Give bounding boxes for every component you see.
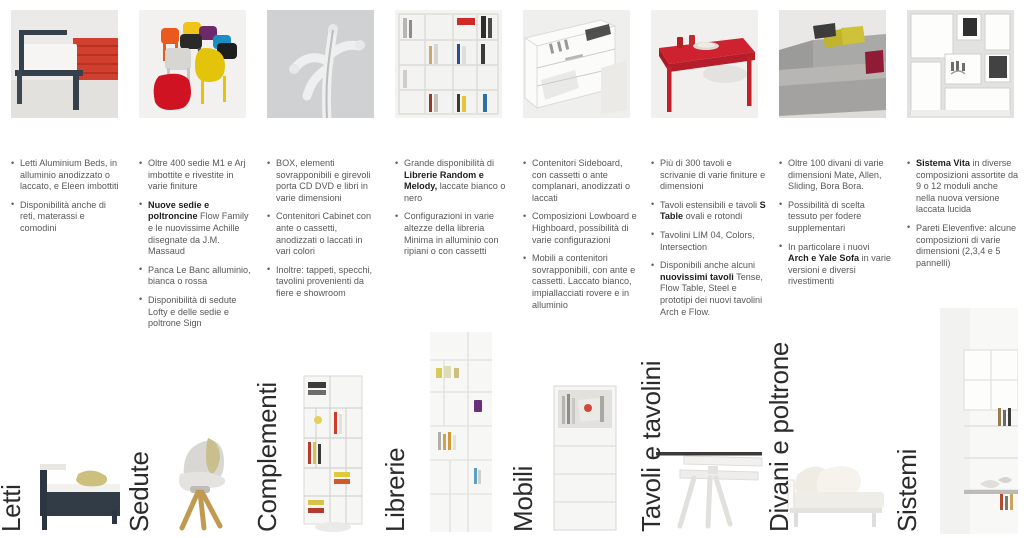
list-item: BOX, elementi sovrapponibili e girevoli … xyxy=(267,158,379,204)
emphasis-text: Sistema Vita xyxy=(916,158,970,168)
wall-unit-photo xyxy=(940,308,1018,534)
list-item: Tavolini LIM 04, Colors, Intersection xyxy=(651,230,767,253)
body-text: Disponibilità anche di reti, materassi e… xyxy=(20,200,106,233)
list-item: Composizioni Lowboard e Highboard, possi… xyxy=(523,211,639,246)
category-column-mobili: Contenitori Sideboard, con cassetti o an… xyxy=(512,0,640,538)
body-text: Oltre 100 divani di varie dimensioni Mat… xyxy=(788,158,884,191)
emphasis-text: Arch e Yale Sofa xyxy=(788,253,859,263)
bookshelf-photo xyxy=(395,10,502,118)
category-columns: Letti Aluminium Beds, in alluminio anodi… xyxy=(0,0,1024,538)
body-text: Possibilità di scelta tessuto per fodere… xyxy=(788,200,865,233)
body-text: Disponibili anche alcuni xyxy=(660,260,755,270)
list-item: Disponibili anche alcuni nuovissimi tavo… xyxy=(651,260,767,318)
body-text: Panca Le Banc alluminio, bianca o rossa xyxy=(148,265,251,287)
category-label-text: Mobili xyxy=(510,466,536,532)
feature-list-sedute: Oltre 400 sedie M1 e Arj imbottite e riv… xyxy=(139,158,251,337)
list-item: Tavoli estensibili e tavoli S Table oval… xyxy=(651,200,767,223)
body-text: Tavoli estensibili e tavoli xyxy=(660,200,760,210)
list-item: Disponibilità di sedute Lofty e delle se… xyxy=(139,295,251,330)
category-column-sedute: Oltre 400 sedie M1 e Arj imbottite e riv… xyxy=(128,0,256,538)
list-item: Configurazioni in varie altezze della li… xyxy=(395,211,511,257)
colored-chairs-photo xyxy=(139,10,246,118)
category-column-tavoli: Più di 300 tavoli e scrivanie di varie f… xyxy=(640,0,768,538)
emphasis-text: nuovissimi tavoli xyxy=(660,272,734,282)
list-item: Sistema Vita in diverse composizioni ass… xyxy=(907,158,1019,216)
category-column-complementi: BOX, elementi sovrapponibili e girevoli … xyxy=(256,0,384,538)
white-shelving-photo xyxy=(430,332,492,532)
list-item: Possibilità di scelta tessuto per fodere… xyxy=(779,200,891,235)
category-column-librerie: Grande disponibilità di Librerie Random … xyxy=(384,0,512,538)
body-text: Contenitori Cabinet con ante o cassetti,… xyxy=(276,211,371,256)
wood-chair-photo xyxy=(154,430,238,534)
bed-dark-photo xyxy=(34,446,122,534)
red-table-photo xyxy=(651,10,758,118)
body-text: Più di 300 tavoli e scrivanie di varie f… xyxy=(660,158,765,191)
feature-list-mobili: Contenitori Sideboard, con cassetti o an… xyxy=(523,158,639,318)
list-item: Inoltre: tappeti, specchi, tavolini prov… xyxy=(267,265,379,300)
feature-list-divani: Oltre 100 divani di varie dimensioni Mat… xyxy=(779,158,891,295)
list-item: In particolare i nuovi Arch e Yale Sofa … xyxy=(779,242,891,288)
grey-sofa-photo xyxy=(779,10,886,118)
sideboard-photo xyxy=(523,10,630,118)
list-item: Pareti Elevenfive: alcune composizioni d… xyxy=(907,223,1019,269)
body-text: Letti Aluminium Beds, in alluminio anodi… xyxy=(20,158,119,191)
list-item: Disponibilità anche di reti, materassi e… xyxy=(11,200,123,235)
feature-list-tavoli: Più di 300 tavoli e scrivanie di varie f… xyxy=(651,158,767,325)
category-column-sistemi: Sistema Vita in diverse composizioni ass… xyxy=(896,0,1024,538)
feature-list-sistemi: Sistema Vita in diverse composizioni ass… xyxy=(907,158,1019,276)
category-label-text: Sedute xyxy=(126,451,152,532)
body-text: Mobili a contenitori sovrapponibili, con… xyxy=(532,253,635,309)
catalog-sheet: Letti Aluminium Beds, in alluminio anodi… xyxy=(0,0,1024,538)
body-text: BOX, elementi sovrapponibili e girevoli … xyxy=(276,158,371,203)
body-text: In particolare i nuovi xyxy=(788,242,869,252)
category-column-letti: Letti Aluminium Beds, in alluminio anodi… xyxy=(0,0,128,538)
category-label-text: Letti xyxy=(0,484,24,532)
body-text: Contenitori Sideboard, con cassetti o an… xyxy=(532,158,630,203)
category-label-text: Complementi xyxy=(254,382,280,532)
list-item: Più di 300 tavoli e scrivanie di varie f… xyxy=(651,158,767,193)
list-item: Mobili a contenitori sovrapponibili, con… xyxy=(523,253,639,311)
body-text: Oltre 400 sedie M1 e Arj imbottite e riv… xyxy=(148,158,246,191)
list-item: Nuove sedie e poltroncine Flow Family e … xyxy=(139,200,251,258)
list-item: Contenitori Cabinet con ante o cassetti,… xyxy=(267,211,379,257)
body-text: Disponibilità di sedute Lofty e delle se… xyxy=(148,295,236,328)
feature-list-letti: Letti Aluminium Beds, in alluminio anodi… xyxy=(11,158,123,242)
white-cabinet-photo xyxy=(552,384,618,532)
body-text: Grande disponibilità di xyxy=(404,158,494,168)
list-item: Oltre 400 sedie M1 e Arj imbottite e riv… xyxy=(139,158,251,193)
body-text: Configurazioni in varie altezze della li… xyxy=(404,211,499,256)
list-item: Panca Le Banc alluminio, bianca o rossa xyxy=(139,265,251,288)
category-column-divani: Oltre 100 divani di varie dimensioni Mat… xyxy=(768,0,896,538)
bed-photo xyxy=(11,10,118,118)
list-item: Contenitori Sideboard, con cassetti o an… xyxy=(523,158,639,204)
rotating-bookcase-photo xyxy=(296,372,370,534)
body-text: ovali e rotondi xyxy=(683,211,742,221)
list-item: Letti Aluminium Beds, in alluminio anodi… xyxy=(11,158,123,193)
coat-hanger-photo xyxy=(267,10,374,118)
feature-list-librerie: Grande disponibilità di Librerie Random … xyxy=(395,158,511,265)
list-item: Grande disponibilità di Librerie Random … xyxy=(395,158,511,204)
body-text: Composizioni Lowboard e Highboard, possi… xyxy=(532,211,637,244)
white-sofa-photo xyxy=(780,446,890,532)
body-text: Tavolini LIM 04, Colors, Intersection xyxy=(660,230,755,252)
body-text: Pareti Elevenfive: alcune composizioni d… xyxy=(916,223,1016,268)
category-label-text: Sistemi xyxy=(894,449,920,532)
white-table-photo xyxy=(654,436,766,532)
wall-system-photo xyxy=(907,10,1014,118)
list-item: Oltre 100 divani di varie dimensioni Mat… xyxy=(779,158,891,193)
body-text: Inoltre: tappeti, specchi, tavolini prov… xyxy=(276,265,372,298)
feature-list-complementi: BOX, elementi sovrapponibili e girevoli … xyxy=(267,158,379,307)
category-label-text: Librerie xyxy=(382,448,408,532)
